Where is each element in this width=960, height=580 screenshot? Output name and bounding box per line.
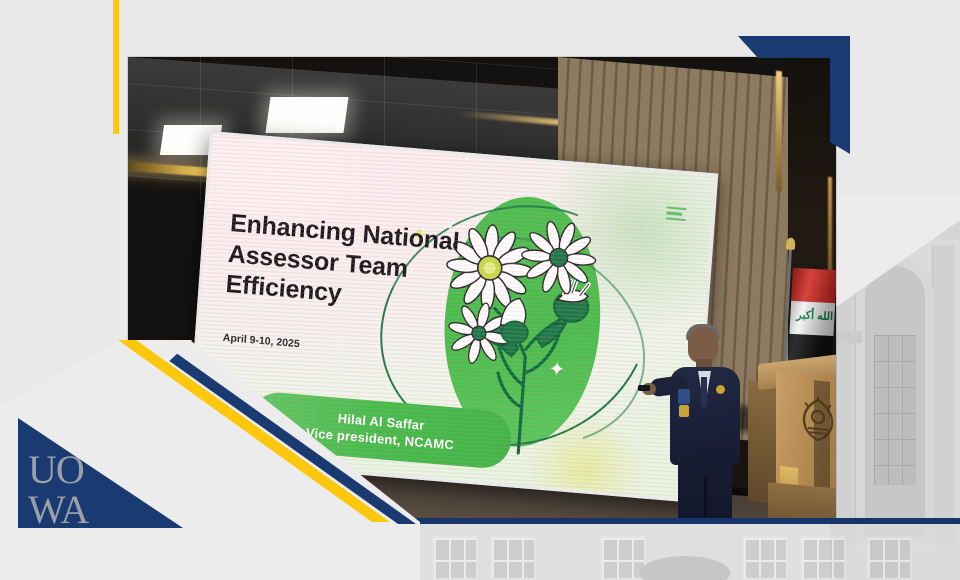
speaker-lapel-pin xyxy=(716,385,725,394)
uowa-logo: UO WA xyxy=(28,452,88,528)
presentation-slide: ✦ ✦ ✦ Enhancing National Assessor Team E… xyxy=(189,134,715,499)
uowa-logo-line-1: UO xyxy=(28,452,88,488)
ceiling-light-panel xyxy=(265,97,348,133)
amber-cove-light xyxy=(776,71,782,192)
stage-photograph: ✦ ✦ ✦ Enhancing National Assessor Team E… xyxy=(128,57,836,520)
presenter-clicker xyxy=(638,385,650,391)
slide-date: April 9-10, 2025 xyxy=(222,332,300,350)
yellow-accent-line xyxy=(113,0,119,134)
navy-divider-rule xyxy=(130,518,960,524)
speaker-tie xyxy=(701,377,707,407)
projection-screen: ✦ ✦ ✦ Enhancing National Assessor Team E… xyxy=(186,131,718,503)
speaker-badge xyxy=(678,389,690,404)
hamburger-icon xyxy=(666,206,687,221)
speaker-badge xyxy=(679,405,689,417)
speaker-person xyxy=(654,327,774,520)
building-facade-graphic xyxy=(0,522,960,580)
sparkle-icon: ✦ xyxy=(548,359,566,380)
poster-canvas: ✦ ✦ ✦ Enhancing National Assessor Team E… xyxy=(0,0,960,580)
podium-base xyxy=(768,482,836,520)
speaker-head xyxy=(688,327,718,363)
uowa-logo-line-2: WA xyxy=(28,492,88,528)
podium-emblem-icon xyxy=(796,395,836,446)
flag-finial xyxy=(786,238,796,250)
backdrop-wedge-top-right xyxy=(826,196,960,346)
arched-building-graphic xyxy=(830,215,960,580)
